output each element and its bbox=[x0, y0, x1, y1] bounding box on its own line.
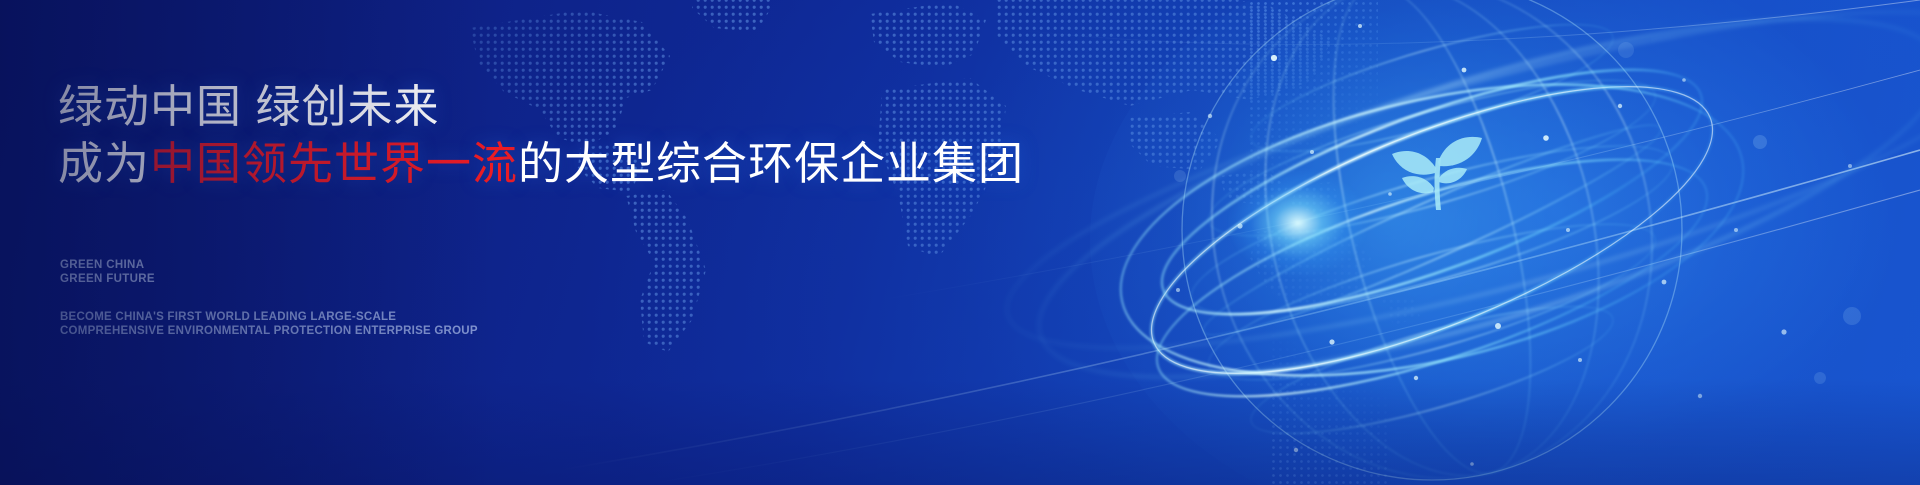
page-title: 绿动中国 绿创未来 成为中国领先世界一流的大型综合环保企业集团 bbox=[58, 78, 1024, 192]
slogan-line-2: GREEN FUTURE bbox=[60, 272, 155, 286]
halftone-pattern bbox=[1270, 318, 1390, 485]
slogan-line-1: GREEN CHINA bbox=[60, 258, 155, 272]
headline-suffix: 的大型综合环保企业集团 bbox=[518, 138, 1024, 189]
headline-prefix: 成为 bbox=[58, 138, 150, 189]
globe-haze bbox=[1090, 0, 1890, 485]
light-burst-icon bbox=[1228, 168, 1368, 278]
globe-icon bbox=[1060, 0, 1920, 485]
banner-copy: 绿动中国 绿创未来 成为中国领先世界一流的大型综合环保企业集团 GREEN CH… bbox=[58, 0, 1038, 485]
headline-line-1: 绿动中国 绿创未来 bbox=[58, 81, 440, 132]
halftone-pattern bbox=[1248, 0, 1378, 205]
headline-line-2: 成为中国领先世界一流的大型综合环保企业集团 bbox=[58, 135, 1024, 192]
headline-highlight: 中国领先世界一流 bbox=[150, 138, 518, 189]
slogan-english: GREEN CHINA GREEN FUTURE bbox=[60, 258, 155, 286]
sprout-icon bbox=[1384, 118, 1488, 216]
description-english: BECOME CHINA'S FIRST WORLD LEADING LARGE… bbox=[60, 310, 478, 338]
hero-banner: 绿动中国 绿创未来 成为中国领先世界一流的大型综合环保企业集团 GREEN CH… bbox=[0, 0, 1920, 485]
description-line-1: BECOME CHINA'S FIRST WORLD LEADING LARGE… bbox=[60, 310, 478, 324]
description-line-2: COMPREHENSIVE ENVIRONMENTAL PROTECTION E… bbox=[60, 324, 478, 338]
